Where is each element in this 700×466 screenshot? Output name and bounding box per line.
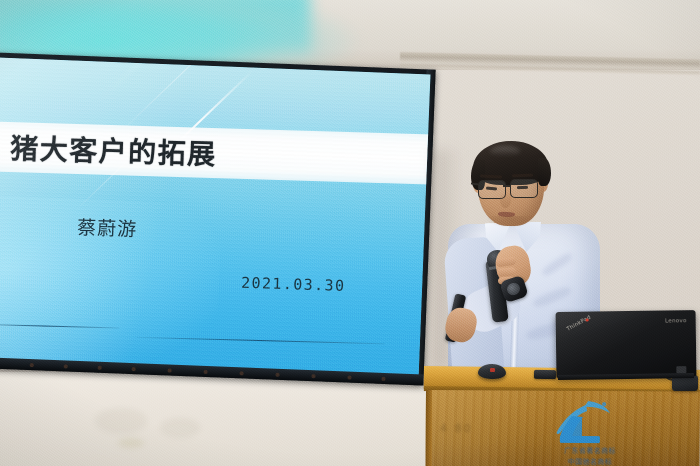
podium-brand-logo <box>542 396 616 449</box>
usb-dongle[interactable] <box>534 370 556 379</box>
presentation-photo-scene: 猪大客户的拓展 蔡蔚游 2021.03.30 <box>0 0 700 466</box>
glasses-bridge <box>503 185 511 187</box>
hair-side-right <box>538 158 551 186</box>
wall-below-screen <box>0 372 470 466</box>
nose <box>500 192 511 208</box>
podium-logo-line2: 中国驰名商标 <box>535 456 645 466</box>
wall-display[interactable]: 猪大客户的拓展 蔡蔚游 2021.03.30 <box>0 52 436 386</box>
wall-smudge-b <box>160 418 200 438</box>
laptop-lid[interactable]: ThinkPad Lenovo <box>556 310 697 378</box>
lenovo-logo: Lenovo <box>665 318 687 324</box>
podium-faded-text: 4 80 <box>440 422 473 435</box>
display-panel: 猪大客户的拓展 蔡蔚游 2021.03.30 <box>0 57 430 375</box>
chin-shadow <box>486 216 534 228</box>
glasses-lens-right <box>510 179 538 198</box>
hair-highlight <box>490 146 520 156</box>
podium-logo-caption: 广东省著名商标 中国驰名商标 <box>535 446 645 466</box>
mouse-indicator-led <box>490 368 495 372</box>
screen-scanlines <box>0 57 430 375</box>
thinkpad-red-dot <box>586 319 589 322</box>
wall-smudge-c <box>118 438 144 448</box>
wall-smudge-a <box>95 408 147 434</box>
podium-left-edge <box>426 390 432 466</box>
podium-logo-line1: 广东省著名商标 <box>535 446 645 458</box>
